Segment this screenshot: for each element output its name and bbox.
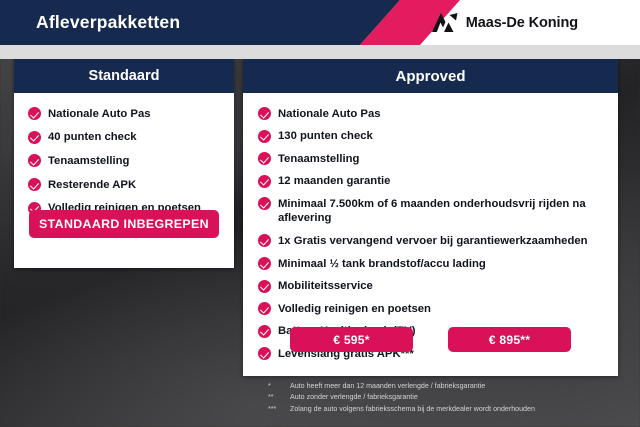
list-item: Tenaamstelling — [28, 153, 234, 168]
feature-label: 130 punten check — [278, 129, 373, 144]
check-circle-icon — [258, 152, 271, 165]
feature-label: Minimaal ½ tank brandstof/accu lading — [278, 256, 486, 271]
price-button-895[interactable]: € 895** — [448, 327, 571, 352]
feature-label: 40 punten check — [48, 130, 137, 145]
check-circle-icon — [28, 131, 41, 144]
page-header: Afleverpakketten Maas-De Koning — [0, 0, 640, 45]
standaard-inbegrepen-button[interactable]: STANDAARD INBEGREPEN — [29, 210, 219, 238]
footnotes: * Auto heeft meer dan 12 maanden verleng… — [268, 381, 628, 415]
feature-label: Tenaamstelling — [48, 153, 129, 168]
price-button-595[interactable]: € 595* — [290, 327, 413, 352]
check-circle-icon — [258, 175, 271, 188]
package-card-standaard: Standaard Nationale Auto Pas 40 punten c… — [14, 59, 234, 268]
feature-label: 1x Gratis vervangend vervoer bij garanti… — [278, 233, 588, 248]
feature-list-approved: Nationale Auto Pas 130 punten check Tena… — [243, 93, 618, 361]
check-circle-icon — [28, 178, 41, 191]
brand-name: Maas-De Koning — [466, 15, 578, 31]
check-circle-icon — [258, 234, 271, 247]
list-item: 1x Gratis vervangend vervoer bij garanti… — [258, 233, 618, 248]
brand-logo: Maas-De Koning — [432, 0, 578, 45]
list-item: Tenaamstelling — [258, 151, 618, 166]
feature-label: Nationale Auto Pas — [48, 106, 151, 121]
price-button-row: € 595* € 895** — [243, 327, 618, 352]
feature-label: Minimaal 7.500km of 6 maanden onderhouds… — [278, 196, 618, 226]
feature-label: Nationale Auto Pas — [278, 106, 381, 121]
footnote-marker: ** — [268, 392, 290, 403]
feature-label: 12 maanden garantie — [278, 174, 390, 189]
package-card-approved: Approved Nationale Auto Pas 130 punten c… — [243, 59, 618, 376]
list-item: Minimaal 7.500km of 6 maanden onderhouds… — [258, 196, 618, 226]
list-item: Resterende APK — [28, 177, 234, 192]
footnote-item: *** Zolang de auto volgens fabrieksschem… — [268, 404, 628, 415]
footnote-text: Auto zonder verlengde / fabrieksgarantie — [290, 392, 418, 403]
list-item: Mobiliteitsservice — [258, 279, 618, 294]
feature-label: Resterende APK — [48, 177, 136, 192]
header-underbar — [0, 45, 640, 59]
footnote-marker: * — [268, 381, 290, 392]
check-circle-icon — [258, 302, 271, 315]
check-circle-icon — [258, 197, 271, 210]
feature-list-standaard: Nationale Auto Pas 40 punten check Tenaa… — [14, 93, 234, 216]
check-circle-icon — [28, 107, 41, 120]
list-item: 40 punten check — [28, 130, 234, 145]
check-circle-icon — [258, 130, 271, 143]
feature-label: Volledig reinigen en poetsen — [278, 301, 431, 316]
card-title-standaard: Standaard — [14, 59, 234, 93]
check-circle-icon — [28, 154, 41, 167]
check-circle-icon — [258, 107, 271, 120]
list-item: Nationale Auto Pas — [258, 106, 618, 121]
check-circle-icon — [258, 257, 271, 270]
footnote-text: Zolang de auto volgens fabrieksschema bi… — [290, 404, 535, 415]
list-item: Minimaal ½ tank brandstof/accu lading — [258, 256, 618, 271]
list-item: 130 punten check — [258, 129, 618, 144]
card-title-approved: Approved — [243, 59, 618, 93]
feature-label: Mobiliteitsservice — [278, 279, 373, 294]
footnote-item: * Auto heeft meer dan 12 maanden verleng… — [268, 381, 628, 392]
list-item: Nationale Auto Pas — [28, 106, 234, 121]
maas-de-koning-m-logo-icon — [432, 13, 458, 33]
feature-label: Tenaamstelling — [278, 151, 359, 166]
page-title: Afleverpakketten — [36, 0, 180, 45]
footnote-marker: *** — [268, 404, 290, 415]
footnote-item: ** Auto zonder verlengde / fabrieksgaran… — [268, 392, 628, 403]
list-item: Volledig reinigen en poetsen — [258, 301, 618, 316]
footnote-text: Auto heeft meer dan 12 maanden verlengde… — [290, 381, 485, 392]
check-circle-icon — [258, 280, 271, 293]
list-item: 12 maanden garantie — [258, 174, 618, 189]
